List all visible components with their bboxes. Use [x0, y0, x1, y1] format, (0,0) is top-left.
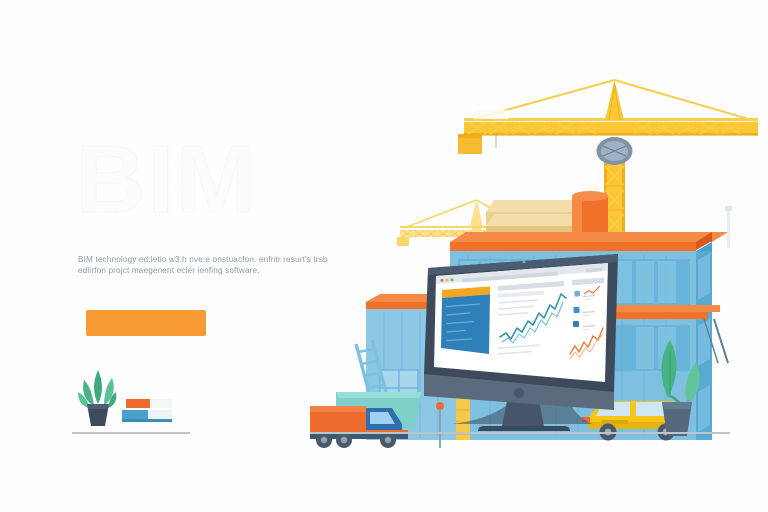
plant-and-books-group [72, 358, 192, 436]
hero-paragraph: BIM technology ed:letio w3.h nve:e onstu… [78, 254, 350, 276]
ground-line-right [310, 432, 730, 434]
desktop-monitor[interactable] [418, 250, 630, 435]
book-stack [122, 399, 172, 422]
potted-plant-left [78, 370, 116, 426]
primary-cta-button[interactable] [86, 310, 206, 336]
illustration-stage: BIM BIM technology ed:letio w3.h nve:e o… [0, 0, 768, 512]
watermark-bim: BIM [76, 132, 258, 228]
ground-line-left [72, 432, 190, 434]
